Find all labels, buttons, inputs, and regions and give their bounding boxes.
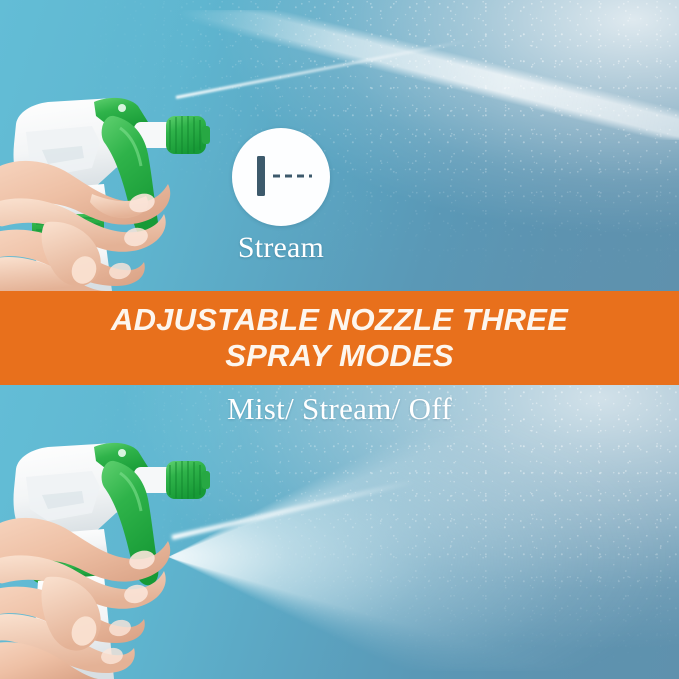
bottom-panel-mist: Mist	[0, 385, 679, 679]
stream-badge-label: Stream	[220, 232, 342, 264]
stream-pattern-icon	[232, 128, 330, 226]
spray-modes-subtitle: Mist/ Stream/ Off	[0, 392, 679, 426]
headline-line-1: ADJUSTABLE NOZZLE THREE	[111, 302, 568, 338]
headline-line-2: SPRAY MODES	[225, 338, 453, 374]
product-feature-poster: Stream ADJUSTABLE NOZZLE THREE SPRAY MOD…	[0, 0, 679, 679]
top-panel-stream: Stream	[0, 0, 679, 291]
spray-bottle-bottom	[0, 417, 236, 679]
headline-banner: ADJUSTABLE NOZZLE THREE SPRAY MODES	[0, 291, 679, 385]
stream-mode-badge: Stream	[220, 128, 342, 264]
stream-badge-circle	[232, 128, 330, 226]
spray-bottle-top	[0, 72, 236, 291]
